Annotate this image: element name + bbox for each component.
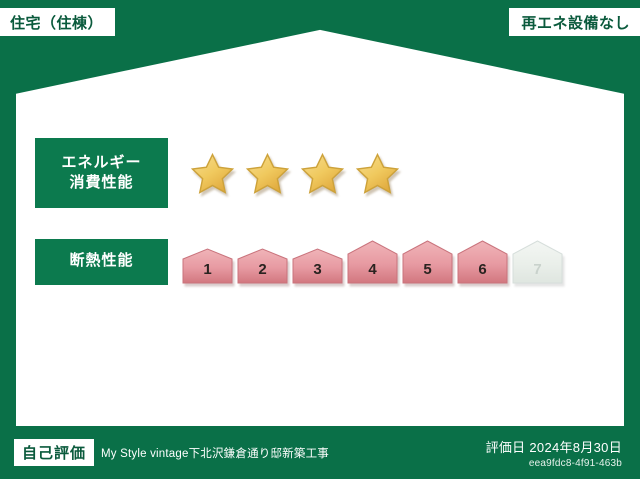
star-rating bbox=[190, 152, 400, 195]
insulation-grade-4: 4 bbox=[347, 240, 398, 284]
tab-building-type: 住宅（住棟） bbox=[0, 8, 115, 36]
insulation-grade-7: 7 bbox=[512, 240, 563, 284]
star-icon bbox=[355, 152, 400, 195]
self-evaluation-badge: 自己評価 bbox=[14, 439, 94, 466]
insulation-grade-number: 4 bbox=[347, 261, 398, 278]
insulation-grade-number: 5 bbox=[402, 261, 453, 278]
star-icon bbox=[300, 152, 345, 195]
row-insulation-label: 断熱性能 bbox=[35, 239, 168, 285]
insulation-grade-number: 2 bbox=[237, 261, 288, 278]
evaluation-id: eea9fdc8-4f91-463b bbox=[486, 458, 622, 469]
insulation-grade-2: 2 bbox=[237, 248, 288, 284]
project-name: My Style vintage下北沢鎌倉通り邸新築工事 bbox=[101, 445, 329, 461]
evaluation-date: 評価日 2024年8月30日 bbox=[486, 437, 622, 456]
row-insulation-value: 1234567 bbox=[168, 240, 618, 284]
tab-renewable-equipment-label: 再エネ設備なし bbox=[521, 12, 630, 33]
insulation-grade-number: 6 bbox=[457, 261, 508, 278]
insulation-grade-scale: 1234567 bbox=[182, 240, 563, 284]
label-footer: 自己評価 My Style vintage下北沢鎌倉通り邸新築工事 評価日 20… bbox=[0, 426, 640, 479]
insulation-grade-number: 7 bbox=[512, 261, 563, 278]
insulation-grade-5: 5 bbox=[402, 240, 453, 284]
footer-meta: 評価日 2024年8月30日 eea9fdc8-4f91-463b bbox=[486, 437, 622, 469]
panel-divider bbox=[22, 215, 618, 222]
insulation-grade-3: 3 bbox=[292, 248, 343, 284]
tab-building-type-label: 住宅（住棟） bbox=[10, 12, 103, 33]
row-energy-label: エネルギー 消費性能 bbox=[35, 138, 168, 208]
star-icon bbox=[190, 152, 235, 195]
insulation-grade-number: 1 bbox=[182, 261, 233, 278]
row-insulation-label-text: 断熱性能 bbox=[69, 251, 133, 271]
rating-panel: ASSiST エネルギー 消費性能 断熱性能 1234567 bbox=[22, 131, 618, 301]
star-icon bbox=[245, 152, 290, 195]
tab-renewable-equipment: 再エネ設備なし bbox=[509, 8, 640, 36]
insulation-grade-number: 3 bbox=[292, 261, 343, 278]
row-energy-performance: エネルギー 消費性能 bbox=[22, 131, 618, 215]
row-energy-label-line2: 消費性能 bbox=[69, 173, 133, 193]
row-energy-label-line1: エネルギー bbox=[61, 153, 141, 173]
insulation-grade-1: 1 bbox=[182, 248, 233, 284]
row-insulation-performance: 断熱性能 1234567 bbox=[22, 222, 618, 301]
insulation-grade-6: 6 bbox=[457, 240, 508, 284]
energy-performance-label: 住宅（住棟） 再エネ設備なし 建築物省エネ法に基づく 省エネ性能ラベル ASSi… bbox=[0, 0, 640, 479]
row-energy-value bbox=[168, 152, 618, 195]
